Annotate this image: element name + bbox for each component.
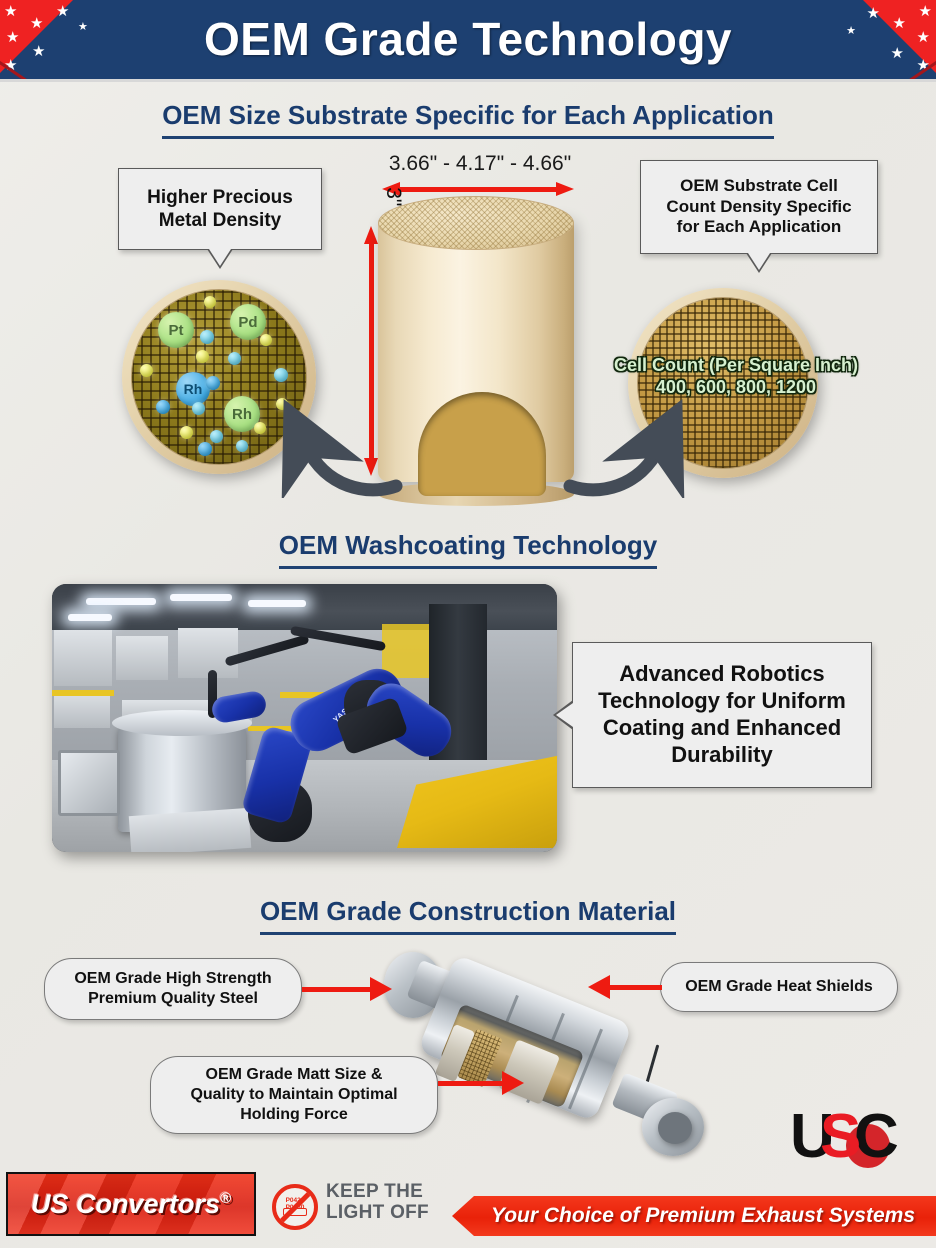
callout-steel-line2: Premium Quality Steel (74, 989, 271, 1009)
no-dtc-code-icon: P0420 P0430 (272, 1184, 318, 1230)
cell-count-line1: Cell Count (Per Square Inch) (586, 355, 886, 377)
arrow-to-matt (438, 1079, 524, 1088)
callout-precious-metal-line1: Higher Precious (147, 186, 293, 209)
callout-cell-count-line3: for Each Application (666, 217, 851, 238)
metal-dot (200, 330, 214, 344)
metal-dot (274, 368, 288, 382)
callout-cell-count-line2: Count Density Specific (666, 197, 851, 218)
callout-matt-holding-force: OEM Grade Matt Size & Quality to Maintai… (150, 1056, 438, 1134)
callout-matt-line2: Quality to Maintain Optimal (190, 1085, 397, 1105)
keep-light-line2: LIGHT OFF (326, 1203, 429, 1224)
metal-dot (254, 422, 266, 434)
cell-count-overlay-label: Cell Count (Per Square Inch) 400, 600, 8… (586, 355, 886, 399)
callout-cell-count-line1: OEM Substrate Cell (666, 176, 851, 197)
brand-name: US Convertors (31, 1189, 220, 1219)
metal-dot (196, 350, 209, 363)
tagline-text: Your Choice of Premium Exhaust Systems (473, 1204, 915, 1228)
infographic-page: ★ ★ ★ ★ ★ ★ ★ OEM Grade Technology ★ ★ ★… (0, 0, 936, 1248)
metal-dot-pd: Pd (230, 304, 266, 340)
callout-cell-count-density: OEM Substrate Cell Count Density Specifi… (640, 160, 878, 254)
usc-monogram-logo: U S C (790, 1106, 918, 1172)
metal-dot (204, 296, 216, 308)
callout-robotics-line3: Coating and Enhanced (598, 715, 846, 742)
tagline-banner: Your Choice of Premium Exhaust Systems (452, 1196, 936, 1236)
metal-dot (228, 352, 241, 365)
callout-heat-shields-text: OEM Grade Heat Shields (685, 977, 873, 997)
page-header: ★ ★ ★ ★ ★ ★ ★ OEM Grade Technology ★ ★ ★… (0, 0, 936, 82)
curved-arrow-to-left-disc (280, 398, 410, 498)
metal-dot (206, 376, 220, 390)
callout-precious-metal-density: Higher Precious Metal Density (118, 168, 322, 250)
curved-arrow-to-right-disc (556, 398, 686, 498)
callout-precious-metal-line2: Metal Density (147, 209, 293, 232)
section-heading-construction: OEM Grade Construction Material (0, 896, 936, 935)
metal-dot (180, 426, 193, 439)
keep-the-light-off-badge: P0420 P0430 KEEP THE LIGHT OFF (272, 1180, 442, 1232)
section-heading-size-text: OEM Size Substrate Specific for Each App… (162, 100, 774, 139)
arrow-to-steel-shell (302, 985, 392, 994)
callout-robotics-line4: Durability (598, 742, 846, 769)
metal-dot (198, 442, 212, 456)
us-convertors-logo: US Convertors® (6, 1172, 256, 1236)
callout-advanced-robotics: Advanced Robotics Technology for Uniform… (572, 642, 872, 788)
substrate-top-honeycomb (378, 196, 574, 250)
keep-light-line1: KEEP THE (326, 1182, 429, 1203)
callout-matt-line3: Holding Force (190, 1105, 397, 1125)
callout-matt-line1: OEM Grade Matt Size & (190, 1065, 397, 1085)
metal-dot (140, 364, 153, 377)
diameter-arrow (382, 182, 574, 196)
callout-robotics-line1: Advanced Robotics (598, 661, 846, 688)
metal-dot (236, 440, 248, 452)
section-heading-size: OEM Size Substrate Specific for Each App… (0, 100, 936, 139)
metal-dot (156, 400, 170, 414)
callout-premium-steel: OEM Grade High Strength Premium Quality … (44, 958, 302, 1020)
callout-heat-shields: OEM Grade Heat Shields (660, 962, 898, 1012)
metal-dot (210, 430, 223, 443)
callout-steel-line1: OEM Grade High Strength (74, 969, 271, 989)
section-heading-washcoating: OEM Washcoating Technology (0, 530, 936, 569)
callout-robotics-line2: Technology for Uniform (598, 688, 846, 715)
arrow-to-heat-shield (588, 983, 662, 992)
washcoating-robot-photo: YASKAWA (52, 584, 557, 852)
cell-count-line2: 400, 600, 800, 1200 (586, 377, 886, 399)
metal-dot-rh: Rh (176, 372, 210, 406)
metal-dot (260, 334, 272, 346)
page-title: OEM Grade Technology (0, 0, 936, 78)
metal-dot (192, 402, 205, 415)
metal-dot-pt: Pt (158, 312, 194, 348)
registered-mark: ® (220, 1190, 231, 1207)
section-heading-washcoating-text: OEM Washcoating Technology (279, 530, 657, 569)
section-heading-construction-text: OEM Grade Construction Material (260, 896, 676, 935)
usc-letter-s: S (820, 1106, 861, 1168)
